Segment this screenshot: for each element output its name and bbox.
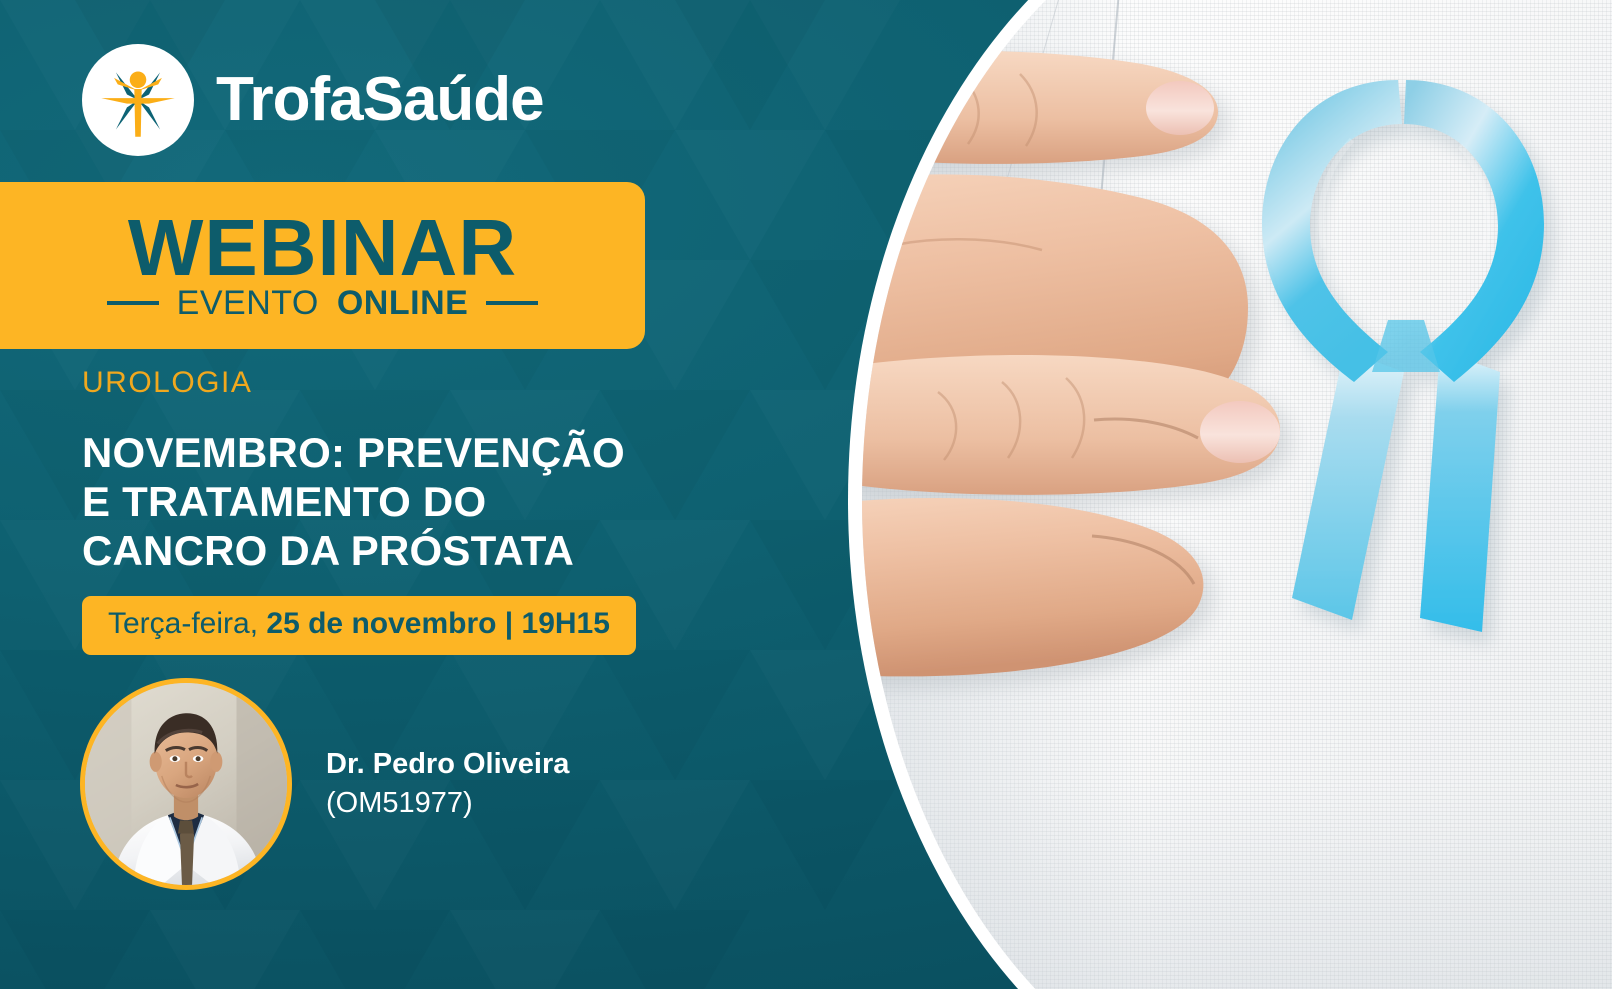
hand-pointing-finger-icon (862, 40, 1402, 740)
date-time-badge: Terça-feira, 25 de novembro | 19H15 (82, 596, 636, 655)
trofa-saude-star-figure-icon (82, 44, 194, 156)
webinar-poster: TrofaSaúde WEBINAR EVENTO ONLINE UROLOGI… (0, 0, 1612, 989)
photo-panel (862, 0, 1612, 989)
specialty-label: UROLOGIA (82, 366, 252, 400)
date-weekday: Terça-feira, (108, 607, 258, 640)
webinar-subtitle: EVENTO ONLINE (107, 286, 539, 320)
dash-left-icon (107, 301, 159, 305)
webinar-subtitle-regular: EVENTO (177, 286, 319, 320)
webinar-title: WEBINAR (128, 211, 517, 285)
dash-right-icon (486, 301, 538, 305)
webinar-banner: WEBINAR EVENTO ONLINE (0, 182, 645, 349)
speaker-registration: (OM51977) (326, 784, 569, 823)
speaker-name: Dr. Pedro Oliveira (326, 745, 569, 784)
date-when: 25 de novembro | 19H15 (266, 607, 610, 640)
speaker-info: Dr. Pedro Oliveira (OM51977) (326, 745, 569, 823)
brand-name: TrofaSaúde (216, 69, 544, 131)
brand-logo[interactable]: TrofaSaúde (82, 44, 544, 156)
fabric-shadow-bottom (862, 780, 1612, 989)
talk-title: NOVEMBRO: PREVENÇÃO E TRATAMENTO DO CANC… (82, 428, 642, 575)
doctor-portrait-avatar (80, 678, 292, 890)
webinar-subtitle-bold: ONLINE (337, 286, 468, 320)
speaker-block: Dr. Pedro Oliveira (OM51977) (80, 678, 569, 890)
